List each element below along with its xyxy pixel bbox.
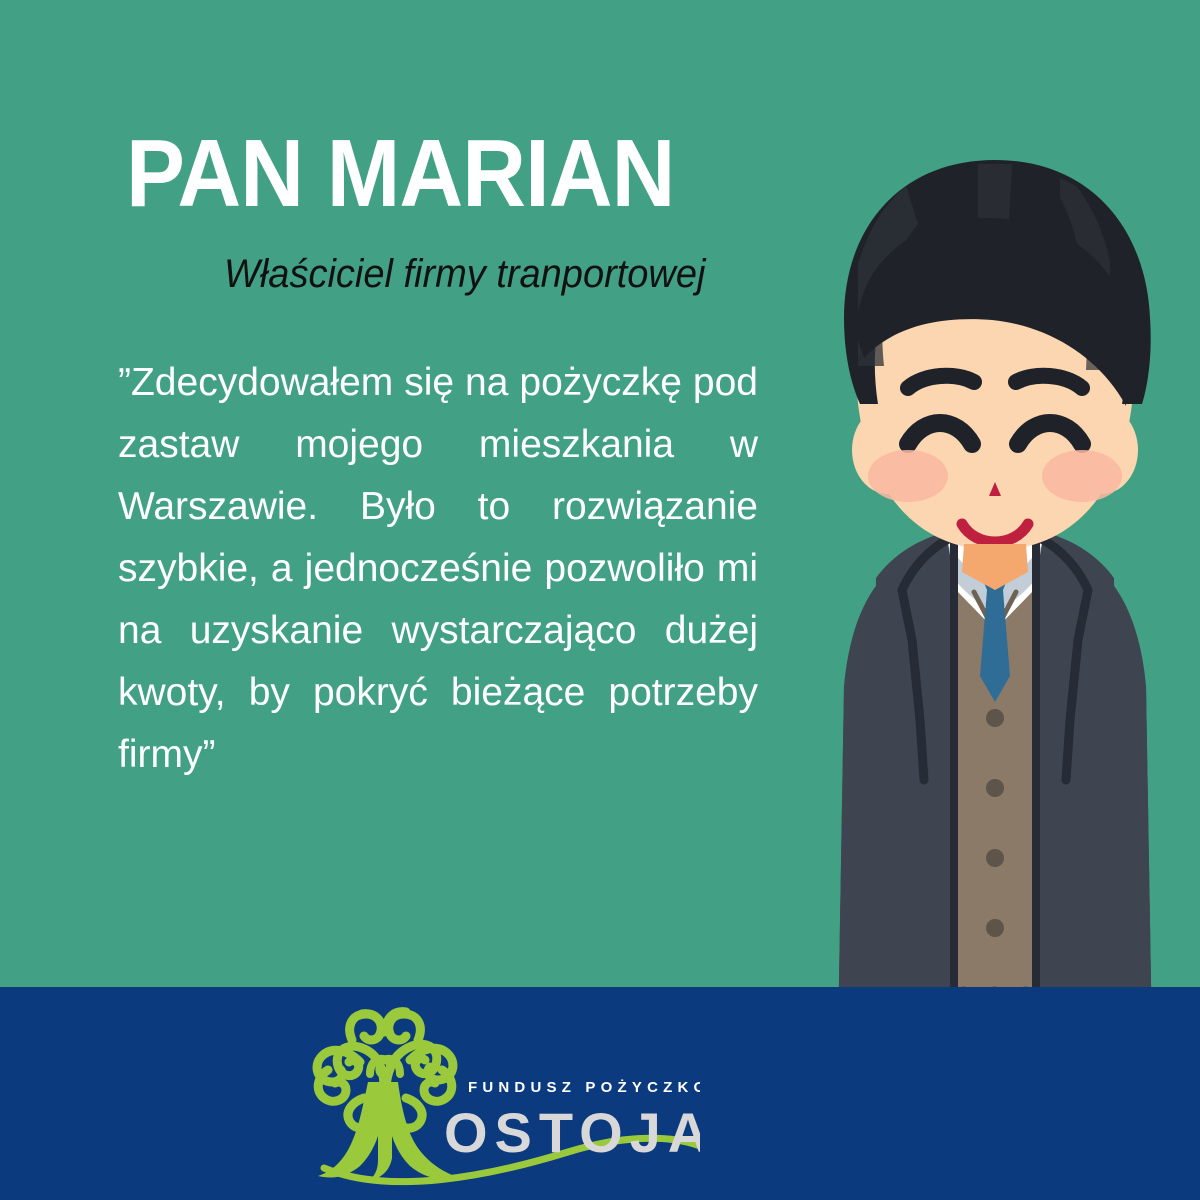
ostoja-logo[interactable]: FUNDUSZ POŻYCZKOWY OSTOJA bbox=[300, 1000, 700, 1190]
logo-wordmark: OSTOJA bbox=[444, 1101, 700, 1164]
tree-icon bbox=[317, 1012, 460, 1180]
page-title: PAN MARIAN bbox=[126, 126, 674, 222]
logo-tagline: FUNDUSZ POŻYCZKOWY bbox=[468, 1079, 700, 1096]
page-subtitle: Właściciel firmy tranportowej bbox=[224, 252, 705, 296]
testimonial-card: PAN MARIAN Właściciel firmy tranportowej… bbox=[0, 0, 1200, 1200]
testimonial-quote: ”Zdecydowałem się na pożyczkę pod zastaw… bbox=[118, 352, 758, 848]
